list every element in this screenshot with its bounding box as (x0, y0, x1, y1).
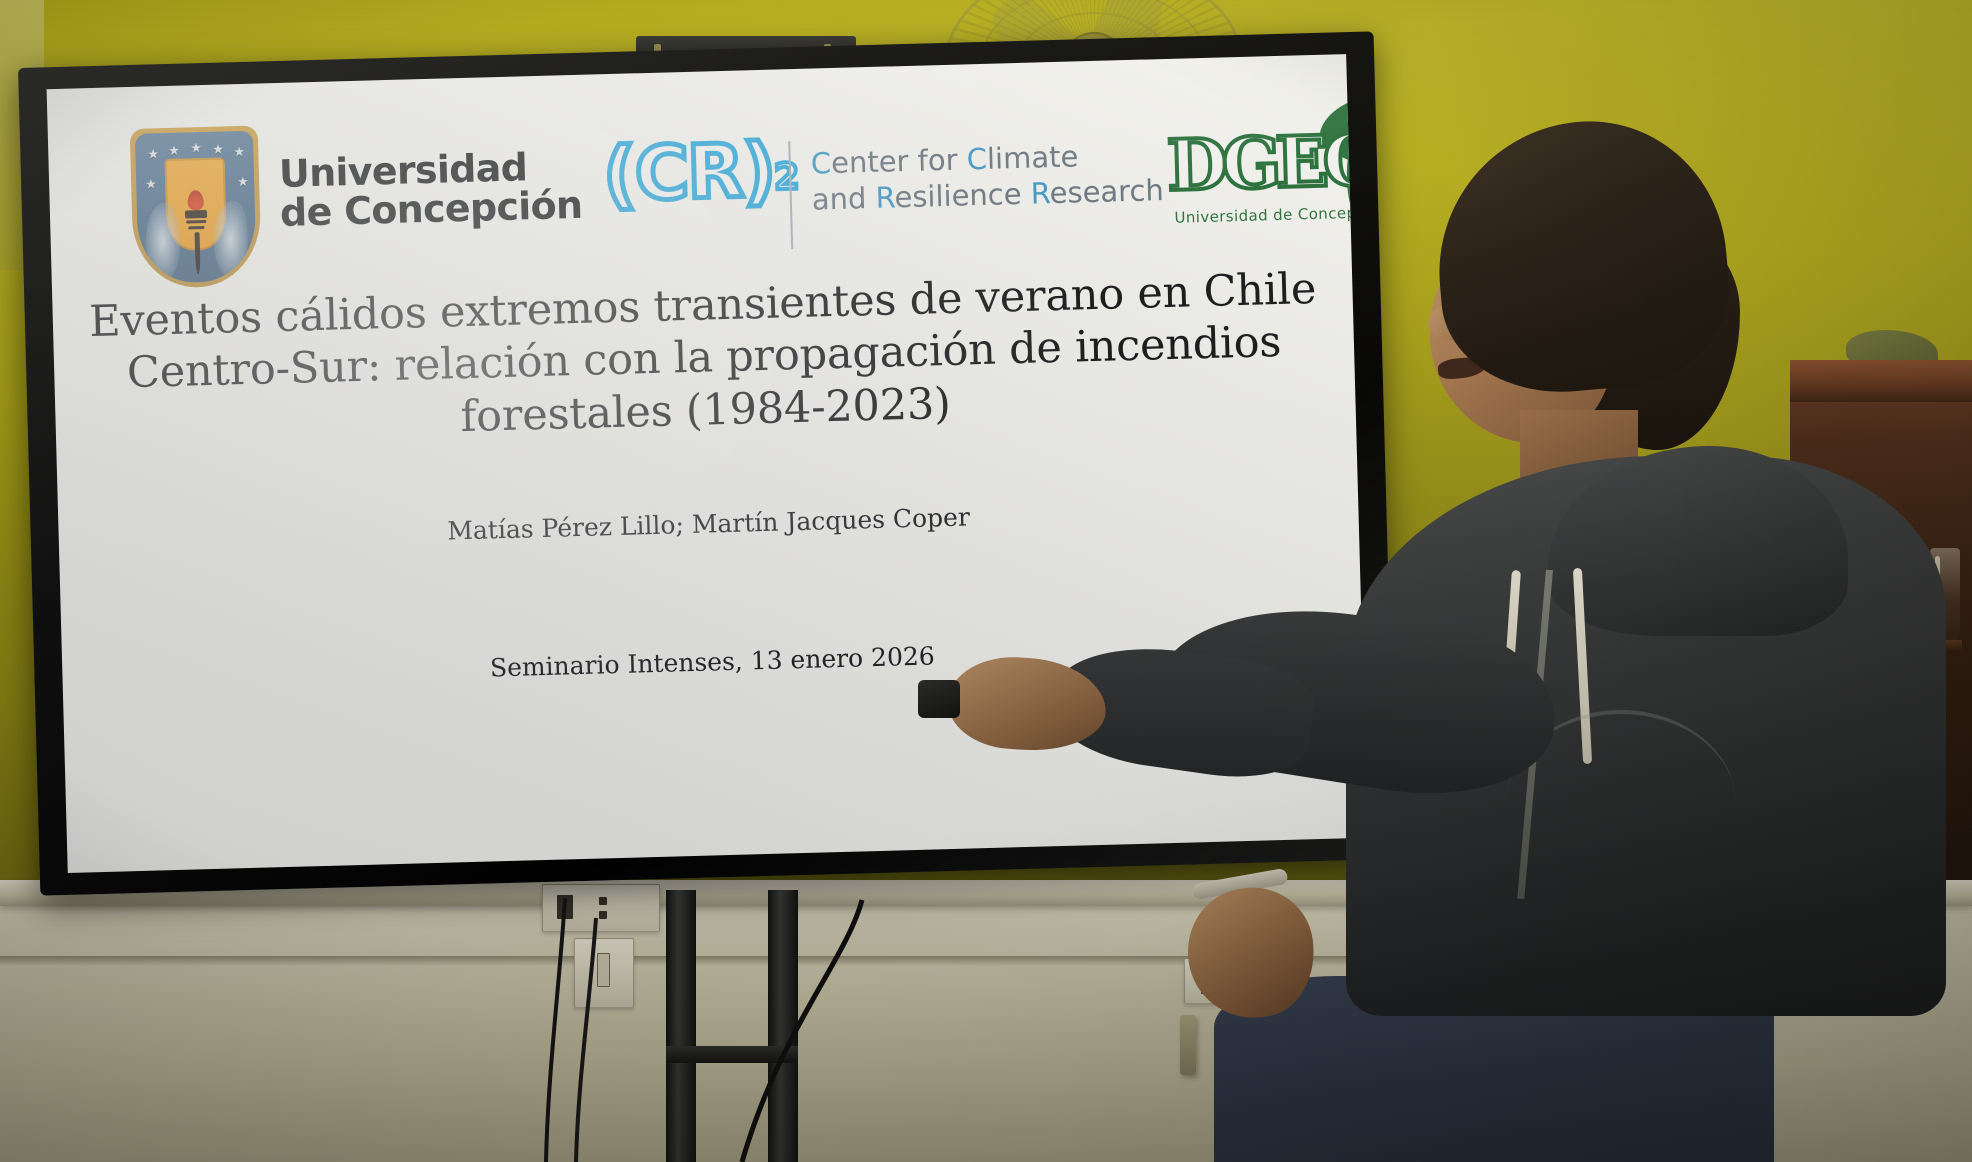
presenter-hair (1427, 110, 1737, 402)
cr2-logo-icon: (CR)2 (602, 133, 800, 212)
tv-stand-left-post (666, 890, 696, 1162)
cr2-t1-tail: limate (987, 139, 1079, 175)
udec-crest-icon: ★ ★ ★ ★ ★ ★ ★ (130, 126, 262, 289)
cr2-hl-r2: R (1030, 176, 1050, 210)
power-outlet-upper (542, 884, 660, 932)
cr2-hl-c1: C (810, 146, 831, 181)
light-switch[interactable] (574, 938, 634, 1008)
wall-hook (1180, 1015, 1196, 1075)
tv-stand-crossbar (666, 1046, 798, 1063)
slide-authors: Matías Pérez Lillo; Martín Jacques Coper (58, 492, 1358, 556)
cr2-exponent: 2 (774, 157, 800, 199)
presenter (1310, 100, 1972, 1162)
slide-title: Eventos cálidos extremos transientes de … (52, 262, 1356, 454)
udec-wordmark: Universidad de Concepción (278, 147, 582, 233)
cr2-t2-tail: esearch (1049, 173, 1164, 210)
cr2-hl-r1: R (875, 180, 895, 214)
cr2-mark: (CR) (602, 128, 775, 219)
cr2-hl-c2: C (966, 142, 987, 177)
photo-scene: ★ ★ ★ ★ ★ ★ ★ (0, 0, 1972, 1162)
cr2-t2-pre: and (811, 181, 876, 217)
cr2-t1-rest: enter for (831, 142, 968, 180)
cr2-t2-mid: esilience (894, 177, 1031, 215)
presentation-clicker (918, 680, 960, 718)
cr2-tagline: Center for Climate and Resilience Resear… (810, 137, 1164, 218)
tv-stand-right-post (768, 890, 798, 1162)
udec-line-2: de Concepción (279, 186, 582, 233)
